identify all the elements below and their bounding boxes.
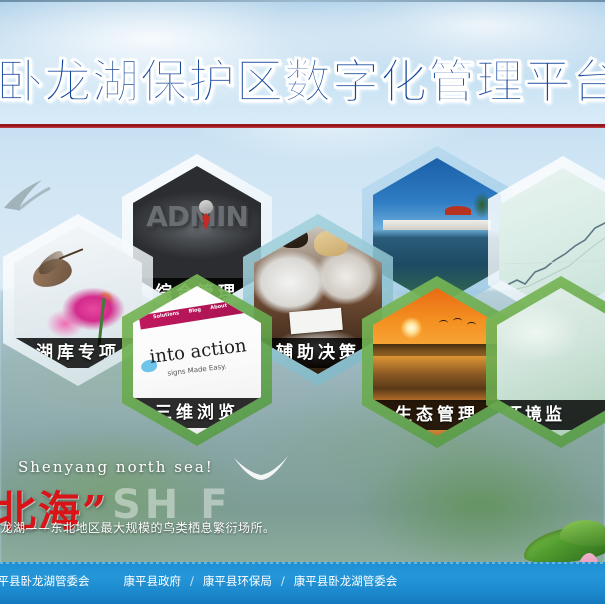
footer-copyright: 康平县卧龙湖管委会: [0, 573, 90, 589]
document-icon: [289, 308, 343, 334]
hexagon-navigation: ADMIN 综合管理 辅助决策 湖库专项: [0, 128, 605, 488]
footer-separator: /: [190, 574, 194, 588]
admin-wordmark: ADMIN: [133, 200, 261, 233]
page-root: 卧龙湖保护区数字化管理平台: [0, 0, 605, 604]
flying-bird-icon: [467, 322, 476, 328]
footer-top-rule: [0, 562, 605, 564]
header-top-rule: [0, 0, 605, 2]
footer-link-government[interactable]: 康平县政府: [124, 573, 182, 589]
footer-link-wolonghu-committee[interactable]: 康平县卧龙湖管委会: [294, 573, 398, 589]
mockup-nav-blog: Blog: [188, 307, 201, 315]
site-header: 卧龙湖保护区数字化管理平台: [0, 0, 605, 128]
slogan-description: 卧龙湖——东北地区最大规模的鸟类栖息繁衍场所。: [0, 519, 308, 536]
reed-band-icon: [373, 344, 501, 356]
mockup-nav-solutions: Solutions: [153, 310, 180, 320]
slogan-english: Shenyang north sea!: [18, 458, 258, 476]
site-footer: 康平县卧龙湖管委会 康平县政府 / 康平县环保局 / 康平县卧龙湖管委会: [0, 562, 605, 604]
footer-link-epb[interactable]: 康平县环保局: [203, 573, 272, 589]
footer-links: 康平县政府 / 康平县环保局 / 康平县卧龙湖管委会: [124, 573, 398, 589]
flying-bird-icon: [439, 320, 448, 326]
mockup-nav-about: About: [210, 303, 228, 312]
bridge-railing-icon: [383, 220, 491, 230]
footer-separator: /: [281, 574, 285, 588]
flying-bird-icon: [453, 318, 462, 324]
page-title: 卧龙湖保护区数字化管理平台: [0, 52, 605, 114]
chess-pawn-icon: [199, 200, 213, 214]
pavilion-roof-icon: [445, 206, 471, 215]
